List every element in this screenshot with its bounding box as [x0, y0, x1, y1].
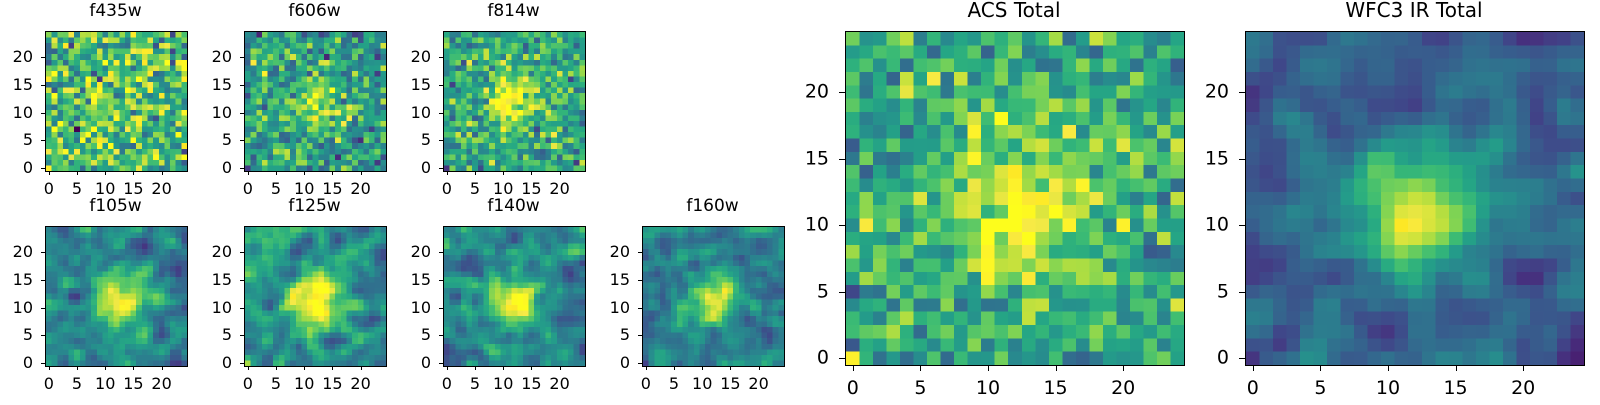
- y-tick-label: 20: [383, 49, 431, 65]
- y-tick-label: 15: [383, 77, 431, 93]
- x-tick: [49, 171, 50, 175]
- x-tick: [1523, 365, 1524, 371]
- y-tick: [839, 92, 845, 93]
- x-tick: [77, 171, 78, 175]
- y-tick: [1239, 225, 1245, 226]
- y-tick-label: 20: [1185, 82, 1229, 101]
- y-tick-label: 15: [184, 272, 232, 288]
- y-tick-label: 5: [582, 327, 630, 343]
- x-tick: [531, 171, 532, 175]
- x-tick: [105, 171, 106, 175]
- y-tick: [41, 252, 45, 253]
- x-tick-label: 5: [914, 379, 926, 398]
- x-tick: [133, 171, 134, 175]
- x-tick: [503, 366, 504, 370]
- x-tick: [361, 171, 362, 175]
- heatmap-image: [46, 227, 187, 366]
- x-tick: [759, 366, 760, 370]
- y-tick: [240, 363, 244, 364]
- y-tick-label: 20: [383, 244, 431, 260]
- axes-frame: [845, 31, 1185, 366]
- x-tick-label: 15: [521, 181, 541, 197]
- x-tick-label: 5: [72, 376, 82, 392]
- y-tick-label: 20: [582, 244, 630, 260]
- x-tick: [1123, 365, 1124, 371]
- x-tick: [1388, 365, 1389, 371]
- x-tick-label: 0: [847, 379, 859, 398]
- y-tick-label: 10: [1185, 216, 1229, 235]
- y-tick: [41, 113, 45, 114]
- y-tick-label: 20: [184, 244, 232, 260]
- x-tick: [447, 171, 448, 175]
- panel-title: ACS Total: [785, 0, 1243, 20]
- y-tick: [41, 85, 45, 86]
- x-tick-label: 10: [692, 376, 712, 392]
- x-tick-label: 15: [1443, 379, 1467, 398]
- x-tick: [332, 171, 333, 175]
- y-tick-label: 5: [0, 327, 33, 343]
- y-tick-label: 5: [383, 132, 431, 148]
- y-tick: [240, 140, 244, 141]
- y-tick-label: 15: [582, 272, 630, 288]
- y-tick: [41, 57, 45, 58]
- y-tick-label: 0: [383, 355, 431, 371]
- x-tick-label: 10: [294, 376, 314, 392]
- y-tick: [1239, 159, 1245, 160]
- x-tick: [920, 365, 921, 371]
- axes-frame: [443, 226, 586, 367]
- x-tick: [853, 365, 854, 371]
- heatmap-image: [444, 32, 585, 171]
- y-tick-label: 15: [0, 272, 33, 288]
- x-tick: [276, 366, 277, 370]
- x-tick-label: 5: [271, 376, 281, 392]
- x-tick: [503, 171, 504, 175]
- y-tick: [240, 85, 244, 86]
- x-tick-label: 20: [1511, 379, 1535, 398]
- x-tick-label: 10: [493, 181, 513, 197]
- x-tick-label: 5: [669, 376, 679, 392]
- axes-frame: [642, 226, 785, 367]
- y-tick-label: 20: [184, 49, 232, 65]
- y-tick-label: 15: [785, 149, 829, 168]
- x-tick: [702, 366, 703, 370]
- x-tick-label: 15: [123, 376, 143, 392]
- x-tick-label: 10: [95, 181, 115, 197]
- y-tick-label: 15: [0, 77, 33, 93]
- y-tick-label: 20: [0, 49, 33, 65]
- y-tick-label: 5: [184, 132, 232, 148]
- x-tick: [560, 171, 561, 175]
- x-tick-label: 10: [1376, 379, 1400, 398]
- x-tick-label: 20: [151, 181, 171, 197]
- x-tick-label: 0: [44, 181, 54, 197]
- y-tick-label: 10: [0, 105, 33, 121]
- x-tick: [304, 366, 305, 370]
- panel-f814w: f814w0510152005101520: [383, 3, 644, 210]
- figure-canvas: f435w0510152005101520f606w05101520051015…: [0, 0, 1600, 400]
- y-tick-label: 20: [0, 244, 33, 260]
- x-tick-label: 5: [470, 181, 480, 197]
- x-tick: [361, 366, 362, 370]
- x-tick-label: 20: [1111, 379, 1135, 398]
- y-tick: [240, 335, 244, 336]
- x-tick: [475, 171, 476, 175]
- y-tick-label: 15: [1185, 149, 1229, 168]
- y-tick: [439, 113, 443, 114]
- y-tick: [1239, 292, 1245, 293]
- x-tick-label: 20: [350, 376, 370, 392]
- y-tick: [41, 168, 45, 169]
- y-tick: [439, 252, 443, 253]
- y-tick: [1239, 92, 1245, 93]
- x-tick-label: 0: [243, 376, 253, 392]
- x-tick-label: 20: [350, 181, 370, 197]
- y-tick: [439, 308, 443, 309]
- y-tick: [41, 335, 45, 336]
- y-tick: [439, 140, 443, 141]
- x-tick: [77, 366, 78, 370]
- y-tick: [41, 308, 45, 309]
- x-tick-label: 15: [322, 181, 342, 197]
- y-tick: [439, 280, 443, 281]
- x-tick-label: 0: [442, 376, 452, 392]
- y-tick-label: 0: [184, 160, 232, 176]
- heatmap-image: [46, 32, 187, 171]
- x-tick-label: 15: [720, 376, 740, 392]
- y-tick: [439, 168, 443, 169]
- heatmap-image: [846, 32, 1184, 365]
- axes-frame: [244, 31, 387, 172]
- panel-wfc3-ir-total: WFC3 IR Total0510152005101520: [1185, 0, 1600, 404]
- y-tick-label: 10: [582, 300, 630, 316]
- x-tick: [1253, 365, 1254, 371]
- y-tick: [240, 168, 244, 169]
- panel-title: f814w: [383, 3, 644, 20]
- x-tick-label: 5: [72, 181, 82, 197]
- x-tick: [531, 366, 532, 370]
- panel-acs-total: ACS Total0510152005101520: [785, 0, 1243, 404]
- y-tick: [638, 280, 642, 281]
- y-tick: [839, 225, 845, 226]
- y-tick-label: 10: [0, 300, 33, 316]
- y-tick-label: 5: [184, 327, 232, 343]
- x-tick: [248, 171, 249, 175]
- x-tick: [1320, 365, 1321, 371]
- x-tick: [332, 366, 333, 370]
- x-tick-label: 0: [243, 181, 253, 197]
- x-tick-label: 5: [470, 376, 480, 392]
- y-tick-label: 0: [785, 349, 829, 368]
- heatmap-image: [245, 227, 386, 366]
- x-tick-label: 15: [322, 376, 342, 392]
- x-tick: [105, 366, 106, 370]
- y-tick: [638, 252, 642, 253]
- y-tick: [41, 280, 45, 281]
- x-tick-label: 5: [1314, 379, 1326, 398]
- y-tick: [638, 335, 642, 336]
- x-tick: [49, 366, 50, 370]
- x-tick-label: 10: [294, 181, 314, 197]
- y-tick-label: 0: [0, 160, 33, 176]
- y-tick-label: 15: [383, 272, 431, 288]
- x-tick-label: 20: [549, 376, 569, 392]
- y-tick: [41, 363, 45, 364]
- x-tick: [646, 366, 647, 370]
- x-tick: [162, 366, 163, 370]
- y-tick-label: 5: [0, 132, 33, 148]
- x-tick: [276, 171, 277, 175]
- y-tick-label: 10: [383, 105, 431, 121]
- axes-frame: [45, 31, 188, 172]
- y-tick: [240, 308, 244, 309]
- y-tick-label: 5: [383, 327, 431, 343]
- y-tick: [240, 252, 244, 253]
- x-tick: [1056, 365, 1057, 371]
- y-tick: [1239, 358, 1245, 359]
- x-tick-label: 10: [95, 376, 115, 392]
- y-tick: [439, 335, 443, 336]
- x-tick-label: 15: [123, 181, 143, 197]
- x-tick: [447, 366, 448, 370]
- axes-frame: [443, 31, 586, 172]
- x-tick-label: 0: [641, 376, 651, 392]
- x-tick-label: 0: [442, 181, 452, 197]
- y-tick-label: 0: [184, 355, 232, 371]
- y-tick: [41, 140, 45, 141]
- axes-frame: [1245, 31, 1585, 366]
- y-tick-label: 15: [184, 77, 232, 93]
- y-tick: [638, 308, 642, 309]
- x-tick: [560, 366, 561, 370]
- x-tick-label: 10: [976, 379, 1000, 398]
- x-tick: [133, 366, 134, 370]
- x-tick: [988, 365, 989, 371]
- y-tick-label: 20: [785, 82, 829, 101]
- y-tick-label: 0: [0, 355, 33, 371]
- axes-frame: [244, 226, 387, 367]
- y-tick: [240, 57, 244, 58]
- y-tick: [839, 358, 845, 359]
- x-tick: [162, 171, 163, 175]
- heatmap-image: [643, 227, 784, 366]
- x-tick: [730, 366, 731, 370]
- y-tick-label: 10: [785, 216, 829, 235]
- y-tick: [439, 57, 443, 58]
- x-tick-label: 5: [271, 181, 281, 197]
- panel-title: WFC3 IR Total: [1185, 0, 1600, 20]
- x-tick: [304, 171, 305, 175]
- x-tick-label: 0: [1247, 379, 1259, 398]
- heatmap-image: [1246, 32, 1584, 365]
- x-tick-label: 20: [151, 376, 171, 392]
- y-tick-label: 0: [383, 160, 431, 176]
- y-tick-label: 5: [785, 282, 829, 301]
- x-tick-label: 20: [549, 181, 569, 197]
- heatmap-image: [444, 227, 585, 366]
- x-tick: [248, 366, 249, 370]
- x-tick-label: 15: [521, 376, 541, 392]
- y-tick: [839, 159, 845, 160]
- y-tick: [439, 85, 443, 86]
- y-tick-label: 10: [184, 300, 232, 316]
- y-tick: [439, 363, 443, 364]
- x-tick-label: 0: [44, 376, 54, 392]
- y-tick-label: 0: [1185, 349, 1229, 368]
- y-tick-label: 5: [1185, 282, 1229, 301]
- heatmap-image: [245, 32, 386, 171]
- x-tick-label: 15: [1043, 379, 1067, 398]
- y-tick: [638, 363, 642, 364]
- y-tick-label: 10: [184, 105, 232, 121]
- y-tick: [240, 280, 244, 281]
- axes-frame: [45, 226, 188, 367]
- x-tick-label: 10: [493, 376, 513, 392]
- y-tick-label: 10: [383, 300, 431, 316]
- x-tick: [475, 366, 476, 370]
- y-tick: [240, 113, 244, 114]
- x-tick: [674, 366, 675, 370]
- x-tick-label: 20: [748, 376, 768, 392]
- x-tick: [1456, 365, 1457, 371]
- y-tick-label: 0: [582, 355, 630, 371]
- y-tick: [839, 292, 845, 293]
